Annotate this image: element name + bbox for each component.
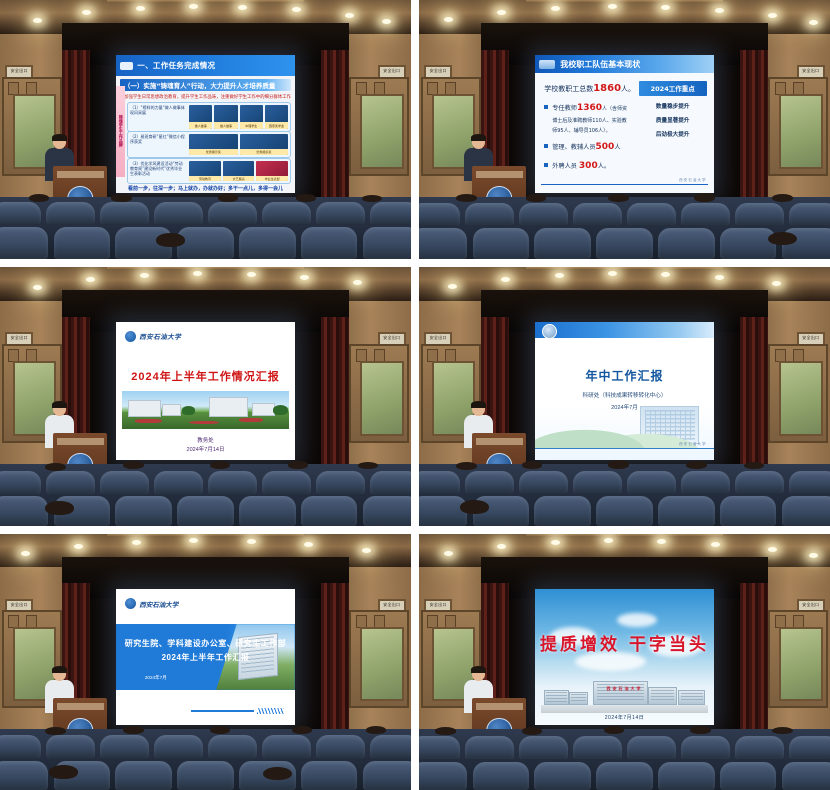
slide-3-date: 2024年7月14日 [116, 445, 294, 453]
photo-panel-1: 安全出口 安全出口 [0, 0, 411, 259]
audience-head [366, 726, 387, 734]
ceiling-light [353, 280, 362, 285]
photo-grid: 安全出口 安全出口 [0, 0, 830, 790]
seat [154, 471, 203, 493]
seat [154, 735, 203, 758]
audience-head [435, 727, 456, 734]
ceiling-light [661, 272, 670, 277]
ceiling-light [809, 553, 818, 558]
seat [154, 202, 203, 224]
seat [177, 761, 234, 790]
audience-head [123, 726, 144, 734]
seat [627, 736, 676, 759]
audience-seating [419, 197, 830, 259]
seat-row [419, 736, 830, 759]
seat [465, 471, 514, 493]
audience-head [608, 194, 629, 202]
slide-2-divider [541, 184, 709, 185]
seat [0, 496, 48, 526]
seat [419, 496, 467, 526]
audience-head [292, 726, 313, 734]
thumb-caption: 劳动教育 [189, 176, 221, 182]
seat [782, 762, 830, 790]
seat [301, 761, 358, 790]
exit-sign-right-label: 安全出口 [799, 334, 823, 340]
seat [239, 227, 296, 259]
seat [681, 203, 730, 225]
slide-1-block-1-thumbs: 做人做事 做人做事 中理学生 国家奖学金 [187, 103, 290, 131]
ceiling-light [247, 272, 256, 277]
slide-5-rule [191, 710, 253, 712]
ceiling-band [526, 267, 723, 269]
slide-1-block: （3）优化学风建设活动“劳动教育周”建设新时代”优秀毕业生表彰活动 劳动教育 文… [127, 158, 291, 185]
podium-nameplate [476, 438, 523, 445]
audience-head [456, 194, 477, 202]
ceiling-light [362, 548, 371, 553]
seat-row [419, 471, 830, 493]
seat [177, 227, 234, 259]
slide-3-brand-name: 西安石油大学 [139, 331, 181, 341]
slide-5: 西安石油大学 研究生院、学科建设办公室、研究生工作部 2024年上半年工作汇报 … [116, 589, 294, 725]
seat [177, 496, 234, 526]
slide-4-footer-mark: 西安石油大学 [679, 442, 707, 447]
ceiling-light [74, 544, 83, 549]
ceiling-light [238, 5, 247, 10]
seat [473, 762, 530, 790]
exit-sign-left-label: 安全出口 [7, 67, 31, 73]
ceiling-light [809, 20, 818, 25]
auditorium-scene: 安全出口 安全出口 [419, 267, 830, 526]
slide-2-bullet-list: 专任教师1360人（含师资博士后及准聘教师110人、实验教师95人、辅导员106… [544, 102, 630, 178]
seat [465, 736, 514, 759]
slide-5-title-line1: 研究生院、学科建设办公室、研究生工作部 [116, 638, 294, 649]
ceiling-light [715, 8, 724, 13]
audience-head [123, 461, 144, 469]
podium-nameplate [57, 703, 104, 710]
bullet-suffix: 人 [614, 144, 620, 151]
slide-2-total-line: 学校教职工总数1860人。 [544, 83, 635, 94]
ceiling-light [382, 19, 391, 24]
podium-nameplate [57, 171, 104, 178]
photo-panel-5: 安全出口 安全出口 [0, 534, 411, 790]
right-door [768, 77, 828, 177]
ceiling-light [772, 281, 781, 286]
thumb-caption: 做人做事 [189, 122, 212, 129]
seat [735, 203, 784, 225]
ceiling-band [526, 0, 723, 2]
slide-4-baseline [535, 448, 713, 450]
university-emblem-icon [125, 598, 136, 609]
auditorium-scene: 安全出口 安全出口 [0, 0, 411, 259]
audience-head [690, 726, 711, 734]
audience-head [111, 194, 132, 202]
audience-head [45, 501, 74, 515]
slide-1-block: （2）易班育研“星红”微信小程序获奖 优秀展示奖 优秀组织奖 [127, 131, 291, 158]
audience-head [288, 461, 309, 469]
seat [100, 471, 149, 493]
bullet-number: 300 [579, 161, 598, 171]
podium-nameplate [476, 703, 523, 710]
audience-head [768, 232, 797, 246]
audience-head [49, 765, 78, 779]
seat [658, 496, 715, 526]
seat [658, 762, 715, 790]
exit-sign-left-label: 安全出口 [426, 67, 450, 73]
slide-6-date: 2024年7月14日 [535, 714, 713, 721]
slide-5-slashes-decor [257, 708, 284, 715]
ceiling-band [107, 534, 304, 536]
seat [473, 228, 530, 259]
seat [627, 203, 676, 225]
photo-panel-4: 安全出口 安全出口 [419, 267, 830, 526]
right-door [349, 77, 409, 177]
university-emblem-icon [539, 60, 555, 69]
audience-head [210, 726, 231, 735]
slide-6-slogan: 提质增效 干字当头 [535, 630, 713, 655]
photo-panel-3: 安全出口 安全出口 [0, 267, 411, 526]
exit-sign-right-label: 安全出口 [799, 67, 823, 73]
projection-screen-5: 西安石油大学 研究生院、学科建设办公室、研究生工作部 2024年上半年工作汇报 … [116, 589, 294, 725]
total-suffix: 人。 [621, 85, 635, 93]
seat [720, 496, 777, 526]
seat [208, 471, 257, 493]
exit-sign-right-label: 安全出口 [380, 334, 404, 340]
slide-5-brand-name: 西安石油大学 [139, 599, 178, 609]
audience-head [522, 727, 543, 735]
ceiling-light [711, 542, 720, 547]
seat [419, 736, 460, 759]
seat [370, 471, 411, 493]
seat [681, 736, 730, 759]
auditorium-scene: 安全出口 安全出口 [419, 0, 830, 259]
slide-1-header: 一、工作任务完成情况 [116, 55, 294, 76]
bullet-suffix: 人。 [598, 163, 610, 170]
seat [596, 762, 653, 790]
ceiling-light [551, 6, 560, 11]
slide-2: 我校职工队伍基本现状 学校教职工总数1860人。 专任教师1360人（含师资博士… [535, 55, 713, 193]
seat [100, 202, 149, 224]
slide-1-block: （1）“榜样的力量”做人做事体现风采展 做人做事 做人做事 中理学生 国家奖学金 [127, 102, 291, 132]
projection-screen-1: 一、工作任务完成情况 （一）实施“铸魂育人”行动，大力提升人才培养质量 2.加强… [116, 55, 294, 193]
ceiling-light [715, 275, 724, 280]
seat [789, 736, 830, 759]
auditorium-scene: 安全出口 安全出口 [0, 267, 411, 526]
slide-1-red-note: 2.加强学生日常思想政治教育，提升学生工作品味，注重做好学生工作中的细分群体工作… [120, 94, 291, 100]
audience-head [218, 193, 239, 202]
right-door [768, 610, 828, 709]
seat [519, 736, 568, 759]
ceiling-light [657, 539, 666, 544]
seat [46, 735, 95, 758]
seat [262, 471, 311, 493]
ceiling-light [132, 540, 141, 545]
seat [0, 227, 48, 259]
thumb-caption: 国家奖学金 [265, 122, 288, 129]
thumb-caption: 优秀组织奖 [240, 149, 289, 155]
ceiling-light [189, 538, 198, 543]
ceiling-light [33, 285, 42, 290]
right-door [768, 344, 828, 444]
audience-head [460, 500, 489, 514]
ceiling-light [247, 539, 256, 544]
seat-row [0, 202, 411, 224]
projection-screen-2: 我校职工队伍基本现状 学校教职工总数1860人。 专任教师1360人（含师资博士… [535, 55, 713, 193]
seat [0, 202, 41, 224]
right-door-glass [360, 94, 404, 169]
audience-head [772, 194, 793, 202]
ceiling-light [33, 18, 42, 23]
thumb-caption: 文艺展演 [223, 176, 255, 182]
slide-3-department: 教务处 [116, 436, 294, 444]
audience-seating [419, 729, 830, 790]
seat [519, 471, 568, 493]
ceiling-light [21, 551, 30, 556]
slide-4-title: 年中工作汇报 [535, 367, 713, 384]
seat [301, 227, 358, 259]
seat [363, 496, 411, 526]
seat [0, 735, 41, 758]
slide-1-block-2-thumbs: 优秀展示奖 优秀组织奖 [187, 132, 290, 157]
ceiling-light [768, 547, 777, 552]
seat [100, 735, 149, 758]
curtain-right [321, 583, 350, 744]
exit-sign-left-label: 安全出口 [426, 601, 450, 607]
seat [534, 228, 591, 259]
slide-1-subtitle: （一）实施“铸魂育人”行动，大力提升人才培养质量 [120, 79, 291, 91]
bullet-number: 1360 [577, 103, 602, 113]
slide-5-title-line2: 2024年上半年工作汇报 [116, 652, 294, 663]
podium-nameplate [476, 171, 523, 178]
projection-screen-4: 年中工作汇报 科研处（科技成果转移转化中心） 2024年7月 西安石油大学 [535, 322, 713, 460]
audience-head [358, 462, 379, 469]
seat [681, 471, 730, 493]
ceiling-light [193, 271, 202, 276]
seat-row [0, 735, 411, 758]
slide-3: 西安石油大学 2024年上半年工作情况汇报 [116, 322, 294, 460]
ceiling-light [136, 6, 145, 11]
ceiling-light [608, 271, 617, 276]
slide-6-campus-name: 西安石油大学 [607, 686, 643, 692]
priorities-header: 2024工作重点 [639, 81, 707, 96]
ceiling-band [107, 267, 304, 269]
seat [370, 202, 411, 224]
auditorium-scene: 安全出口 安全出口 [419, 534, 830, 790]
audience-head [686, 461, 707, 469]
seat [789, 471, 830, 493]
slide-6-campus-photo: 西安石油大学 [541, 675, 709, 713]
slide-3-title: 2024年上半年工作情况汇报 [116, 368, 294, 384]
seat [720, 762, 777, 790]
seat [782, 496, 830, 526]
ceiling-light [345, 13, 354, 18]
ceiling-light [501, 277, 510, 282]
thumb-caption: 做人做事 [214, 122, 237, 129]
seat [370, 735, 411, 758]
podium-nameplate [57, 438, 104, 445]
photo-panel-6: 安全出口 安全出口 [419, 534, 830, 790]
seat [627, 471, 676, 493]
curtain-right [740, 583, 769, 744]
exit-sign-right-label: 安全出口 [380, 67, 404, 73]
exit-sign-right-label: 安全出口 [380, 601, 404, 607]
slide-6: 提质增效 干字当头 西安石油大学 2024年7月14日 [535, 589, 713, 725]
slide-5-date: 2024年7月 [145, 675, 167, 681]
thumb-caption: 毕业生表彰 [256, 176, 288, 182]
ceiling-light [82, 10, 91, 15]
slide-2-bullet-item: 管理、教辅人员500人 [544, 141, 630, 155]
ceiling-light [497, 544, 506, 549]
slide-4-subtitle: 科研处（科技成果转移转化中心） [535, 391, 713, 399]
seat [658, 228, 715, 259]
seat [573, 471, 622, 493]
slide-1-block-3-text: （3）优化学风建设活动“劳动教育周”建设新时代”优秀毕业生表彰活动 [128, 159, 187, 184]
curtain-right [321, 317, 350, 480]
seat [46, 202, 95, 224]
audience-head [694, 193, 715, 202]
priorities-item: 质量显著提升 [639, 116, 707, 124]
seat [115, 761, 172, 790]
total-prefix: 学校教职工总数 [544, 85, 593, 93]
ceiling-light [608, 4, 617, 9]
slide-1-footer-slogan: 看前一步，往深一步；马上就办，办就办好；多干一点儿，多得一会儿 [116, 185, 294, 192]
ceiling-light [551, 540, 560, 545]
seat [735, 736, 784, 759]
slide-3-campus-photo [122, 391, 290, 428]
curtain-right [740, 50, 769, 213]
seat [789, 203, 830, 225]
ceiling-band [107, 0, 304, 2]
slide-1-side-band: 铸魂学生工作品牌 [116, 86, 125, 177]
audience-head [156, 233, 185, 247]
audience-head [456, 462, 477, 470]
seat [262, 735, 311, 758]
audience-head [45, 727, 66, 735]
seat [262, 202, 311, 224]
slide-5-brand: 西安石油大学 [125, 598, 178, 609]
seat [363, 761, 411, 790]
seat [239, 496, 296, 526]
slide-1-block-2-text: （2）易班育研“星红”微信小程序获奖 [128, 132, 187, 157]
audience-head [526, 194, 547, 202]
seat [419, 203, 460, 225]
ceiling-light [189, 4, 198, 9]
curtain-right [321, 50, 350, 213]
audience-head [772, 727, 793, 734]
seat [573, 736, 622, 759]
slide-2-header: 我校职工队伍基本现状 [535, 55, 713, 73]
slide-1: 一、工作任务完成情况 （一）实施“铸魂育人”行动，大力提升人才培养质量 2.加强… [116, 55, 294, 193]
seat [115, 496, 172, 526]
slide-3-brand: 西安石油大学 [125, 331, 181, 342]
curtain-right [740, 317, 769, 480]
seat [363, 227, 411, 259]
audience-head [608, 460, 629, 469]
priorities-item: 数量稳步提升 [639, 102, 707, 110]
slide-logo-icon [120, 62, 133, 70]
ceiling-light [140, 273, 149, 278]
slide-1-header-title: 一、工作任务完成情况 [137, 60, 215, 71]
thumb-caption: 优秀展示奖 [189, 149, 238, 155]
seat [419, 762, 467, 790]
slide-1-block-3-thumbs: 劳动教育 文艺展演 毕业生表彰 [187, 159, 290, 184]
ceiling-light [304, 542, 313, 547]
seat [46, 471, 95, 493]
priorities-item: 后劲极大提升 [639, 130, 707, 138]
ceiling-light [661, 5, 670, 10]
seat [0, 761, 48, 790]
slide-2-bullet-item: 外聘人员 300人。 [544, 160, 630, 174]
slide-2-body: 学校教职工总数1860人。 专任教师1360人（含师资博士后及准聘教师110人、… [535, 73, 713, 193]
slide-2-priorities-panel: 2024工作重点 数量稳步提升 质量显著提升 后劲极大提升 [639, 81, 707, 138]
right-door [349, 610, 409, 709]
seat-row [419, 762, 830, 790]
ceiling-light [444, 17, 453, 22]
projection-screen-6: 提质增效 干字当头 西安石油大学 2024年7月14日 [535, 589, 713, 725]
projection-screen-3: 西安石油大学 2024年上半年工作情况汇报 [116, 322, 294, 460]
seat [419, 471, 460, 493]
audience-head [296, 194, 317, 202]
auditorium-scene: 安全出口 安全出口 [0, 534, 411, 790]
seat [419, 228, 467, 259]
seat [316, 202, 365, 224]
seat-row [0, 471, 411, 493]
ceiling-light [300, 275, 309, 280]
audience-head [604, 726, 625, 735]
photo-panel-2: 安全出口 安全出口 [419, 0, 830, 259]
slide-2-footer-mark: 西安石油大学 [679, 178, 707, 183]
bullet-number: 500 [596, 142, 615, 152]
seat [735, 471, 784, 493]
seat [519, 203, 568, 225]
seat [534, 496, 591, 526]
audience-seating [0, 464, 411, 526]
seat-row [419, 203, 830, 225]
seat [316, 471, 365, 493]
slide-4: 年中工作汇报 科研处（科技成果转移转化中心） 2024年7月 西安石油大学 [535, 322, 713, 460]
total-number: 1860 [593, 83, 621, 94]
seat [0, 471, 41, 493]
exit-sign-left-label: 安全出口 [7, 601, 31, 607]
audience-head [210, 461, 231, 470]
seat [465, 203, 514, 225]
audience-head [263, 767, 292, 781]
ceiling-light [292, 7, 301, 12]
seat [208, 735, 257, 758]
exit-sign-left-label: 安全出口 [426, 334, 450, 340]
audience-seating [0, 197, 411, 259]
seat [301, 496, 358, 526]
audience-head [45, 463, 66, 471]
bullet-prefix: 专任教师 [552, 105, 577, 112]
seat [208, 202, 257, 224]
ceiling-light [86, 277, 95, 282]
audience-head [744, 462, 765, 469]
slide-1-block-1-text: （1）“榜样的力量”做人做事体现风采展 [128, 103, 187, 131]
seat-row [419, 228, 830, 259]
right-door [349, 344, 409, 444]
slide-4-topbar [535, 322, 713, 337]
ceiling-light [768, 13, 777, 18]
seat [54, 227, 111, 259]
seat [534, 762, 591, 790]
seat [720, 228, 777, 259]
ceiling-band [526, 534, 723, 536]
thumb-caption: 中理学生 [240, 122, 263, 129]
seat [596, 228, 653, 259]
exit-sign-right-label: 安全出口 [799, 601, 823, 607]
seat [596, 496, 653, 526]
ceiling-light [444, 551, 453, 556]
